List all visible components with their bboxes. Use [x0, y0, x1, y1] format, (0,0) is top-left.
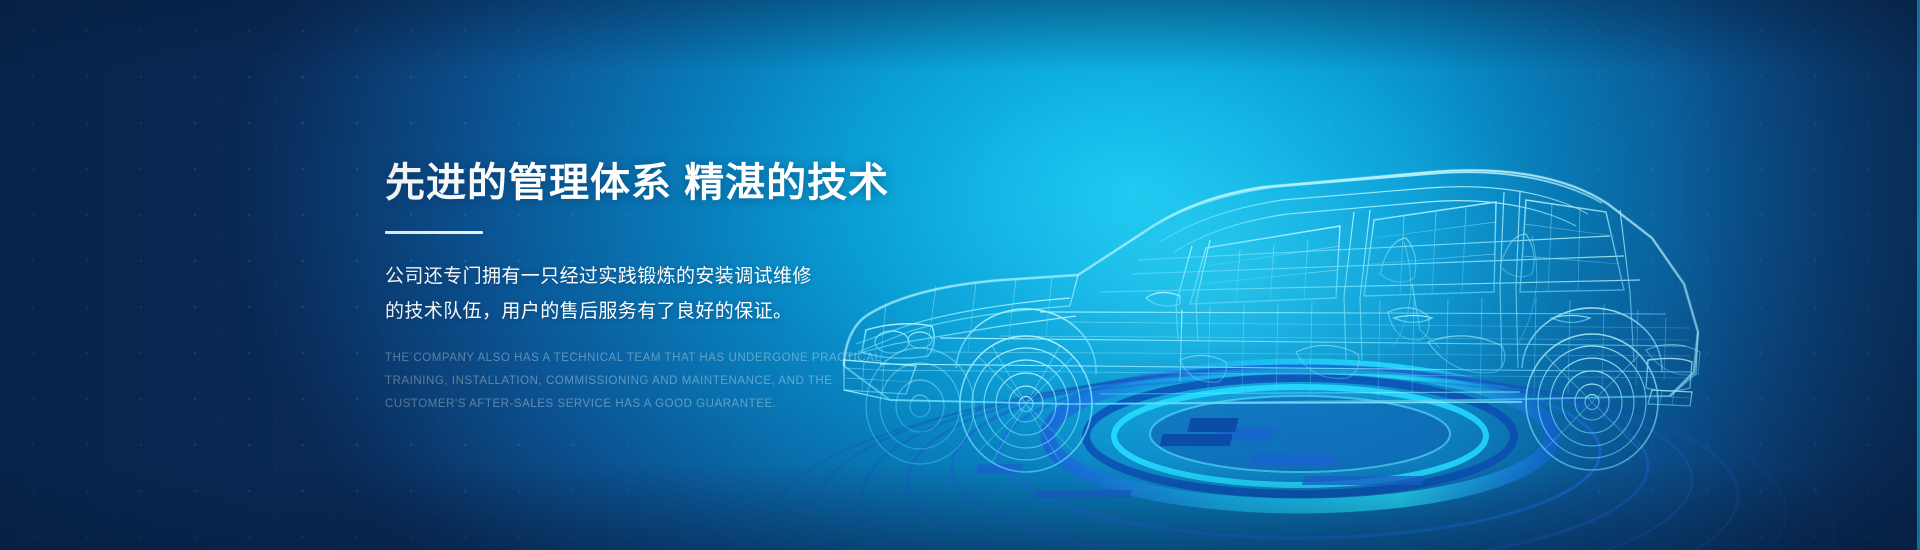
rear-wheel	[1526, 334, 1658, 470]
hero-banner: 先进的管理体系 精湛的技术 公司还专门拥有一只经过实践锻炼的安装调试维修 的技术…	[0, 0, 1920, 550]
page-title: 先进的管理体系 精湛的技术	[385, 160, 905, 207]
front-wheel	[960, 336, 1092, 472]
edge-vignette	[0, 0, 1920, 550]
hero-copy: 先进的管理体系 精湛的技术 公司还专门拥有一只经过实践锻炼的安装调试维修 的技术…	[385, 160, 905, 416]
description-english-line-1: THE COMPANY ALSO HAS A TECHNICAL TEAM TH…	[385, 347, 905, 370]
description-english: THE COMPANY ALSO HAS A TECHNICAL TEAM TH…	[385, 347, 905, 416]
description-chinese-line-1: 公司还专门拥有一只经过实践锻炼的安装调试维修	[385, 260, 905, 295]
description-chinese: 公司还专门拥有一只经过实践锻炼的安装调试维修 的技术队伍，用户的售后服务有了良好…	[385, 260, 905, 329]
dot-grid-pattern	[0, 0, 1920, 550]
center-glow	[880, 70, 1580, 490]
description-english-line-3: CUSTOMER'S AFTER-SALES SERVICE HAS A GOO…	[385, 393, 905, 416]
suv-wireframe	[844, 170, 1700, 472]
wireframe-car-artwork	[740, 60, 1920, 550]
title-divider	[385, 231, 483, 234]
description-english-line-2: TRAINING, INSTALLATION, COMMISSIONING AN…	[385, 370, 905, 393]
description-chinese-line-2: 的技术队伍，用户的售后服务有了良好的保证。	[385, 295, 905, 330]
dot-grid-pattern-offset	[0, 0, 1920, 550]
hud-platform	[766, 342, 1834, 550]
